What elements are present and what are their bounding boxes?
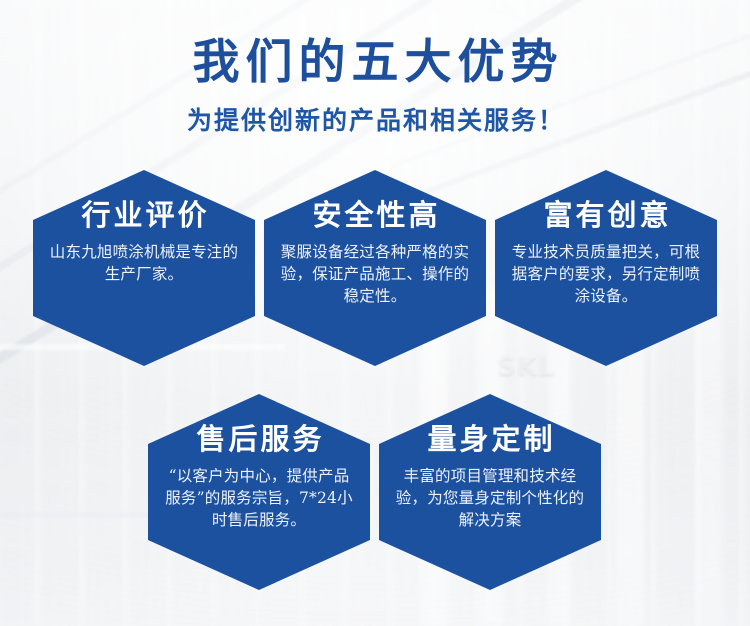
background-watermark: SKL bbox=[497, 352, 555, 382]
advantage-description: 丰富的项目管理和技术经验，为您量身定制个性化的解决方案 bbox=[393, 465, 587, 531]
advantage-description: “以客户为中心，提供产品服务”的服务宗旨，7*24小时售后服务。 bbox=[162, 465, 356, 531]
advantage-description: 山东九旭喷涂机械是专注的生产厂家。 bbox=[47, 241, 241, 285]
advantage-title: 富有创意 bbox=[540, 200, 671, 232]
advantage-title: 行业评价 bbox=[78, 200, 209, 232]
advantages-banner: SKL 我们的五大优势 为提供创新的产品和相关服务！ 行业评价 山东九旭喷涂机械… bbox=[0, 0, 750, 626]
heading-block: 我们的五大优势 为提供创新的产品和相关服务！ bbox=[0, 38, 750, 137]
page-title: 我们的五大优势 bbox=[0, 38, 750, 89]
advantage-title: 量身定制 bbox=[424, 424, 555, 456]
advantage-description: 专业技术员质量把关，可根据客户的要求，另行定制喷涂设备。 bbox=[509, 241, 703, 307]
page-subtitle: 为提供创新的产品和相关服务！ bbox=[0, 101, 750, 137]
advantage-title: 售后服务 bbox=[193, 424, 324, 456]
advantage-description: 聚脲设备经过各种严格的实验，保证产品施工、操作的稳定性。 bbox=[278, 241, 472, 307]
advantage-title: 安全性高 bbox=[309, 200, 440, 232]
